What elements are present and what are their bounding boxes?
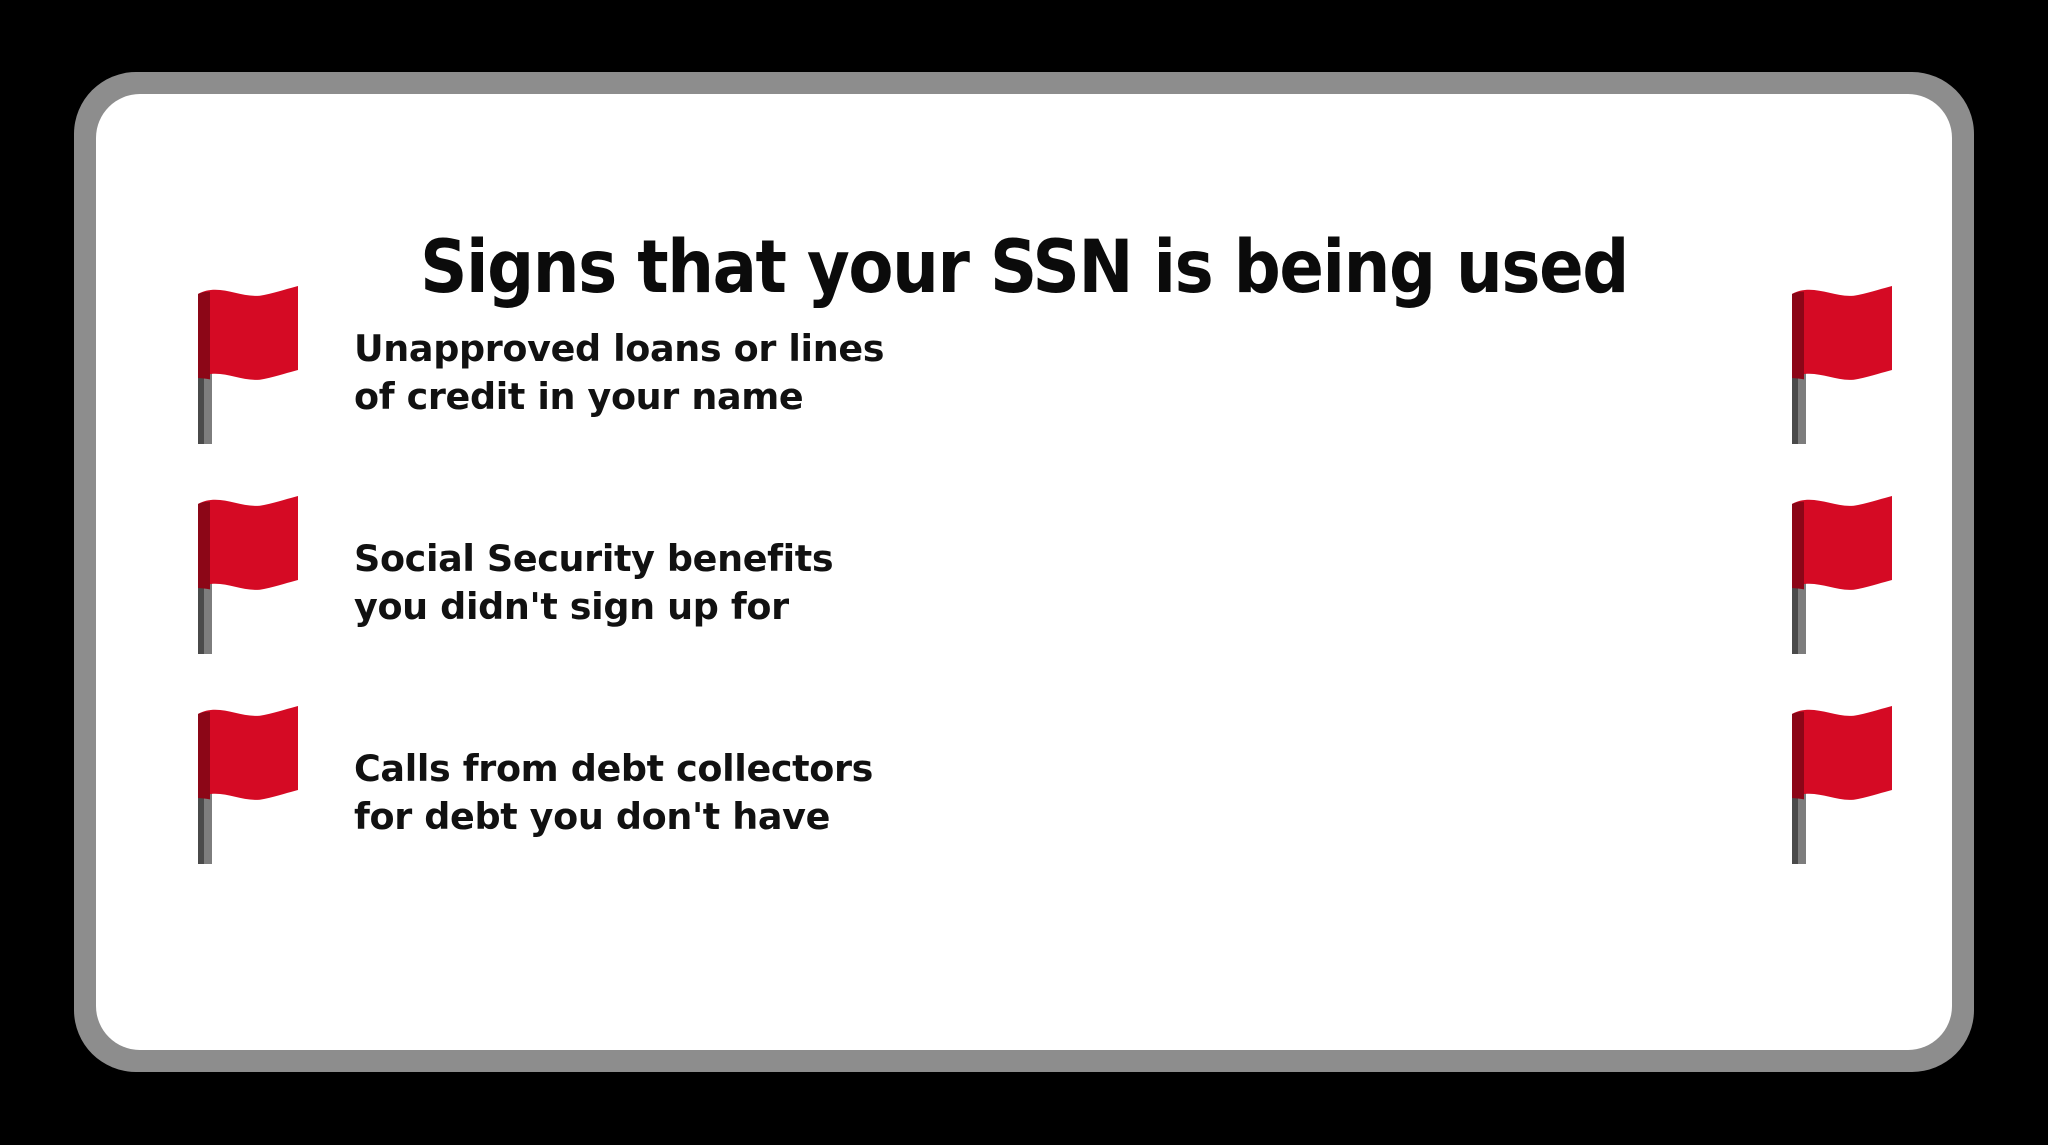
red-flag-icon (186, 494, 302, 669)
list-item-social-security-benefits: Social Security benefits you didn't sign… (96, 490, 1024, 700)
list-item-unidentified-tax-return: Unidentified tax return (1024, 700, 1952, 910)
infographic-canvas: Signs that your SSN is being used Unappr… (0, 0, 2048, 1145)
warning-signs-list: Unapproved loans or lines of credit in y… (96, 280, 1952, 910)
list-item-label: Calls from debt collectors for debt you … (354, 745, 1024, 841)
list-item-debt-collector-calls: Calls from debt collectors for debt you … (96, 700, 1024, 910)
red-flag-icon (186, 284, 302, 459)
list-item-label: Social Security benefits you didn't sign… (354, 535, 1024, 631)
red-flag-icon (1780, 284, 1896, 459)
red-flag-icon (1780, 704, 1896, 879)
red-flag-icon (186, 704, 302, 879)
list-item-label: Unapproved loans or lines of credit in y… (354, 325, 1024, 421)
list-item-mail-from-companies: Mail from companies you don't have accou… (1024, 280, 1952, 490)
list-item-unauthorized-payments: Unauthorized payments or transactions (1024, 490, 1952, 700)
infographic-card: Signs that your SSN is being used Unappr… (96, 94, 1952, 1050)
red-flag-icon (1780, 494, 1896, 669)
list-item-unapproved-loans: Unapproved loans or lines of credit in y… (96, 280, 1024, 490)
